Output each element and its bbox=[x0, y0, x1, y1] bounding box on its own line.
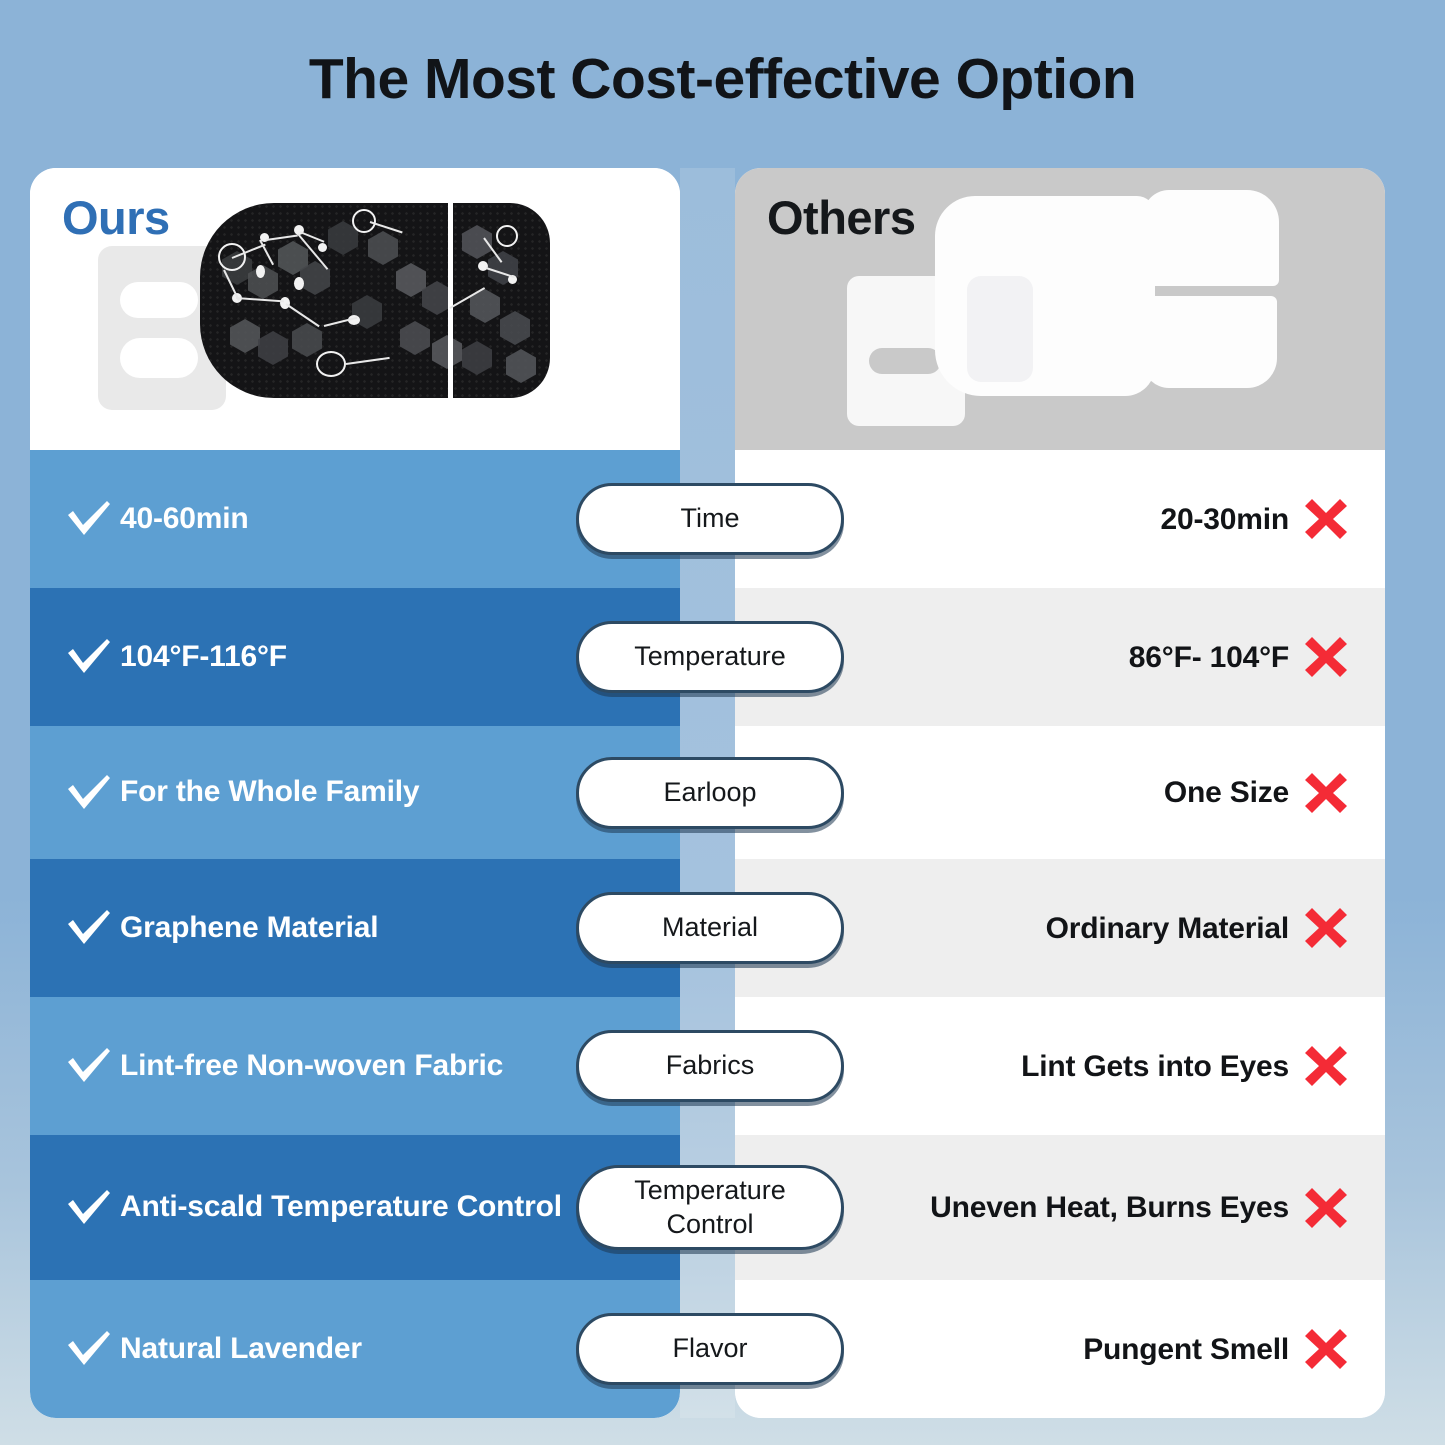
feature-pill-fabrics[interactable]: Fabrics bbox=[576, 1030, 844, 1102]
feature-pill-temperature[interactable]: Temperature bbox=[576, 621, 844, 693]
comparison-board: Ours bbox=[30, 168, 1415, 1418]
feature-pill-time[interactable]: Time bbox=[576, 483, 844, 555]
graphene-mask-icon bbox=[200, 203, 550, 398]
feature-pill-temperature-control[interactable]: Temperature Control bbox=[576, 1165, 844, 1251]
white-mask-mesh-icon bbox=[967, 276, 1033, 382]
others-label: Others bbox=[767, 190, 916, 245]
ours-product-header: Ours bbox=[30, 168, 680, 450]
feature-pill-flavor[interactable]: Flavor bbox=[576, 1313, 844, 1385]
ours-label: Ours bbox=[62, 190, 170, 245]
others-product-header: Others bbox=[735, 168, 1385, 450]
white-mask-flap-top-icon bbox=[1143, 190, 1279, 286]
white-mask-flap-bottom-icon bbox=[1143, 296, 1277, 388]
feature-pill-material[interactable]: Material bbox=[576, 892, 844, 964]
page-title: The Most Cost-effective Option bbox=[0, 0, 1445, 111]
feature-pill-earloop[interactable]: Earloop bbox=[576, 757, 844, 829]
